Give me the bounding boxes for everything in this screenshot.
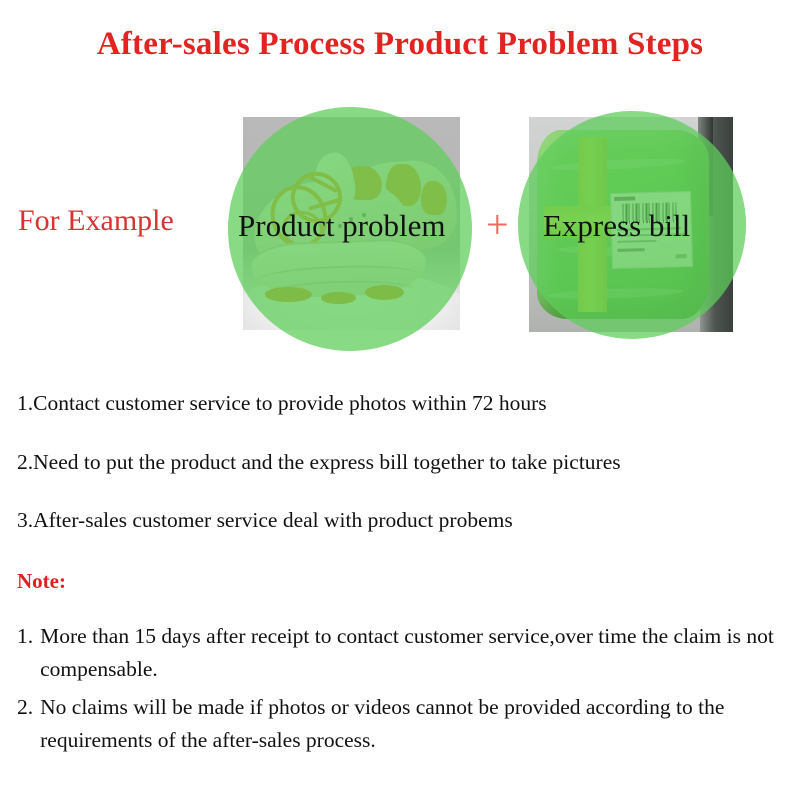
note-item-text: No claims will be made if photos or vide… xyxy=(40,691,792,756)
plus-icon: + xyxy=(486,205,509,245)
label-corner-block xyxy=(676,254,687,259)
note-item-text: More than 15 days after receipt to conta… xyxy=(40,620,792,685)
page-title: After-sales Process Product Problem Step… xyxy=(0,26,800,63)
note-item-number: 1. xyxy=(17,620,40,685)
label-text-line xyxy=(617,248,644,252)
bag-crease xyxy=(551,157,685,173)
bag-crease xyxy=(547,286,684,300)
for-example-label: For Example xyxy=(18,206,174,236)
note-list: 1. More than 15 days after receipt to co… xyxy=(17,620,792,763)
step-item-3: 3.After-sales customer service deal with… xyxy=(17,510,787,532)
note-item-2: 2. No claims will be made if photos or v… xyxy=(17,691,792,756)
label-header-block xyxy=(614,197,635,202)
note-item-number: 2. xyxy=(17,691,40,756)
sneaker-sole-accent xyxy=(365,285,404,300)
step-item-2: 2.Need to put the product and the expres… xyxy=(17,452,787,474)
steps-list: 1.Contact customer service to provide ph… xyxy=(17,393,787,569)
product-problem-caption: Product problem xyxy=(238,210,446,241)
example-row: For Example xyxy=(0,105,800,345)
express-bill-caption: Express bill xyxy=(543,210,690,241)
note-heading: Note: xyxy=(17,571,66,592)
step-item-1: 1.Contact customer service to provide ph… xyxy=(17,393,787,415)
note-item-1: 1. More than 15 days after receipt to co… xyxy=(17,620,792,685)
